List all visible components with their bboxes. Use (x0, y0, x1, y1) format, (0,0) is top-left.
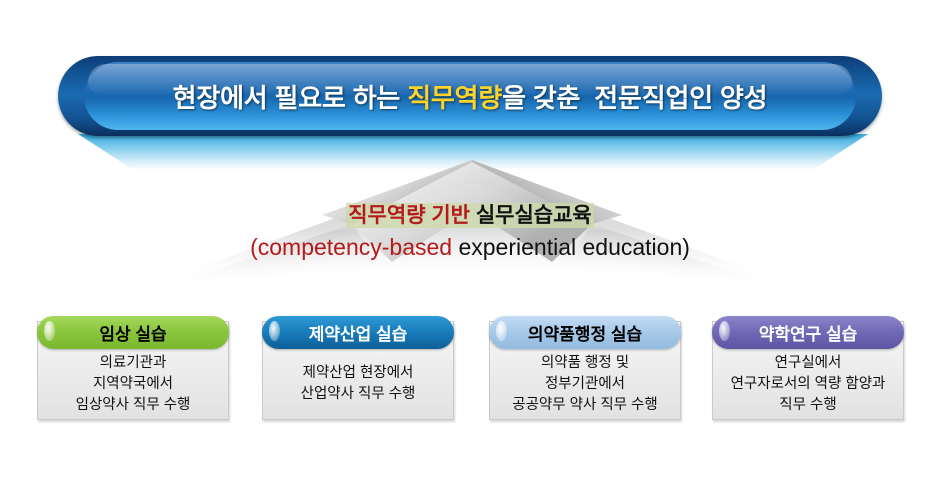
practicum-card-row: 임상 실습 의료기관과 지역약국에서 임상약사 직무 수행 제약산업 실습 제약… (0, 316, 940, 426)
card-title: 약학연구 실습 (759, 320, 858, 345)
card-description: 의약품 행정 및 정부기관에서 공공약무 약사 직무 수행 (493, 354, 677, 414)
card-clinical-practicum[interactable]: 임상 실습 의료기관과 지역약국에서 임상약사 직무 수행 (37, 316, 229, 420)
goal-banner: 현장에서 필요로 하는 직무역량을 갖춘 전문직업인 양성 (58, 56, 882, 136)
banner-title-highlight: 직무역량 (407, 78, 502, 115)
gloss-dot-icon (269, 321, 280, 341)
caption-english-black: experiential education) (452, 234, 690, 260)
caption-korean-black: 실무실습교육 (476, 204, 592, 227)
caption-english-red: (competency-based (250, 234, 452, 260)
card-line: 정부기관에서 (545, 374, 625, 395)
card-header-blue[interactable]: 제약산업 실습 (262, 316, 454, 349)
card-line: 연구실에서 (775, 353, 842, 374)
card-line: 지역약국에서 (93, 374, 173, 395)
card-line: 의약품 행정 및 (541, 353, 629, 374)
banner-title-suffix: 을 갖춘 전문직업인 양성 (502, 78, 767, 115)
banner-title: 현장에서 필요로 하는 직무역량을 갖춘 전문직업인 양성 (58, 56, 882, 136)
banner-title-prefix: 현장에서 필요로 하는 (173, 78, 408, 115)
caption-line-korean: 직무역량 기반 실무실습교육 (0, 203, 940, 229)
card-title: 제약산업 실습 (309, 320, 408, 345)
card-title: 의약품행정 실습 (528, 320, 642, 345)
card-drug-administration-practicum[interactable]: 의약품행정 실습 의약품 행정 및 정부기관에서 공공약무 약사 직무 수행 (489, 316, 681, 420)
caption-block: 직무역량 기반 실무실습교육 (competency-based experie… (0, 203, 940, 262)
diagram-canvas: 현장에서 필요로 하는 직무역량을 갖춘 전문직업인 양성 (0, 0, 940, 485)
card-line: 공공약무 약사 직무 수행 (512, 395, 658, 416)
card-title: 임상 실습 (99, 320, 166, 345)
card-description: 의료기관과 지역약국에서 임상약사 직무 수행 (41, 354, 225, 414)
caption-korean-red: 직무역량 기반 (348, 204, 476, 227)
card-description: 연구실에서 연구자로서의 역량 함양과 직무 수행 (716, 354, 900, 414)
card-header-lightblue[interactable]: 의약품행정 실습 (489, 316, 681, 349)
card-header-purple[interactable]: 약학연구 실습 (712, 316, 904, 349)
card-line: 직무 수행 (779, 395, 836, 416)
caption-line-english: (competency-based experiential education… (0, 232, 940, 262)
card-pharma-industry-practicum[interactable]: 제약산업 실습 제약산업 현장에서 산업약사 직무 수행 (262, 316, 454, 420)
card-line: 연구자로서의 역량 함양과 (731, 374, 886, 395)
card-line: 임상약사 직무 수행 (76, 395, 191, 416)
gloss-dot-icon (719, 321, 730, 341)
card-description: 제약산업 현장에서 산업약사 직무 수행 (266, 354, 450, 414)
gloss-dot-icon (496, 321, 507, 341)
card-line: 제약산업 현장에서 (303, 363, 414, 384)
card-pharmaceutical-research-practicum[interactable]: 약학연구 실습 연구실에서 연구자로서의 역량 함양과 직무 수행 (712, 316, 904, 420)
card-line: 산업약사 직무 수행 (301, 384, 416, 405)
card-header-green[interactable]: 임상 실습 (37, 316, 229, 349)
gloss-dot-icon (44, 321, 55, 341)
card-line: 의료기관과 (100, 353, 167, 374)
